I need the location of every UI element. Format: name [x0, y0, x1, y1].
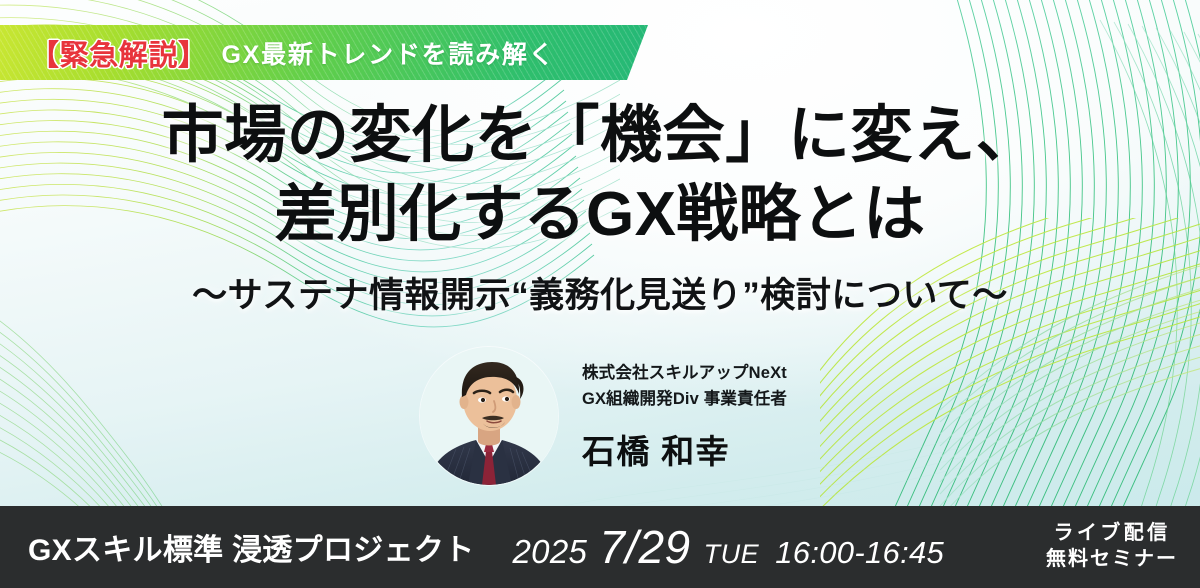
bottom-bar: GXスキル標準 浸透プロジェクト 2025 7/29 TUE 16:00-16:…: [0, 506, 1200, 588]
speaker-company: 株式会社スキルアップNeXt: [582, 361, 787, 387]
project-name: GXスキル標準 浸透プロジェクト: [28, 525, 474, 569]
urgent-label: 【緊急解説】: [30, 32, 207, 74]
ribbon-content: 【緊急解説】 GX最新トレンドを読み解く: [0, 32, 555, 74]
avatar: [420, 347, 558, 485]
page-title-line-1: 市場の変化を「機会」に変え、: [0, 96, 1200, 175]
webinar-banner: 【緊急解説】 GX最新トレンドを読み解く 市場の変化を「機会」に変え、 差別化す…: [0, 0, 1200, 588]
event-datetime: 2025 7/29 TUE 16:00-16:45: [512, 520, 944, 574]
speaker-department: GX組織開発Div 事業責任者: [582, 387, 787, 413]
ribbon-subtitle: GX最新トレンドを読み解く: [221, 35, 555, 71]
speaker-block: 株式会社スキルアップNeXt GX組織開発Div 事業責任者 石橋 和幸: [420, 336, 890, 496]
title-block: 市場の変化を「機会」に変え、 差別化するGX戦略とは ～サステナ情報開示“義務化…: [0, 96, 1200, 318]
live-badge-line-1: ライブ配信: [1046, 521, 1178, 547]
event-day-of-week: TUE: [704, 539, 760, 570]
page-title-line-2: 差別化するGX戦略とは: [0, 175, 1200, 254]
speaker-text: 株式会社スキルアップNeXt GX組織開発Div 事業責任者 石橋 和幸: [582, 359, 787, 472]
event-year: 2025: [512, 533, 587, 571]
page-subtitle: ～サステナ情報開示“義務化見送り”検討について～: [0, 267, 1200, 318]
event-month-day: 7/29: [599, 520, 690, 574]
live-seminar-badge: ライブ配信 無料セミナー: [1046, 521, 1178, 572]
event-time-range: 16:00-16:45: [775, 535, 944, 571]
urgent-ribbon: 【緊急解説】 GX最新トレンドを読み解く: [0, 25, 648, 80]
speaker-portrait-illustration: [420, 347, 558, 485]
speaker-name: 石橋 和幸: [582, 425, 787, 473]
live-badge-line-2: 無料セミナー: [1046, 547, 1178, 573]
